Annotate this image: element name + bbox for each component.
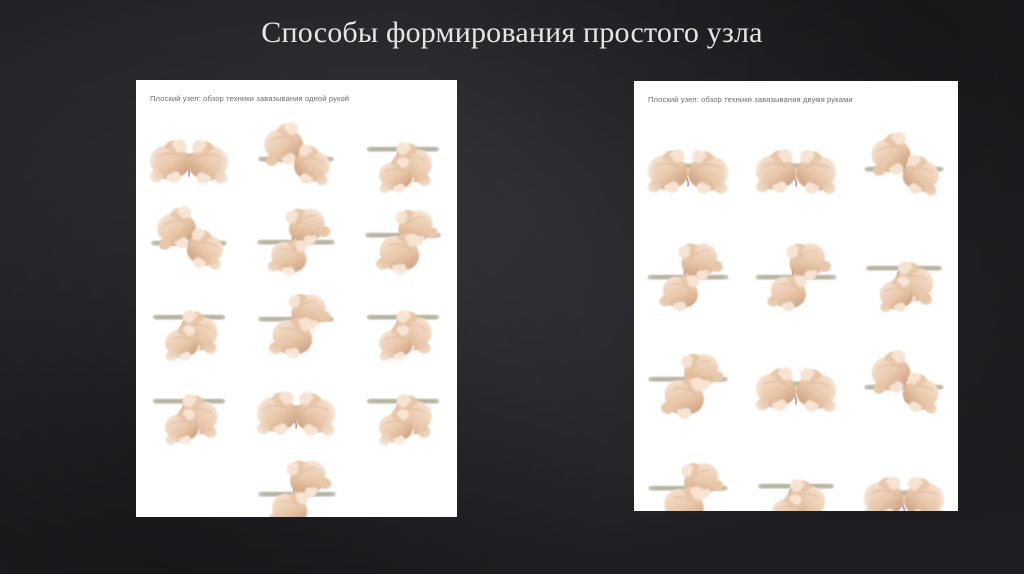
step-photo-second-throw-wrapped	[850, 329, 958, 438]
step-photo-pulling-thread-through-loop	[243, 282, 350, 366]
step-grid-one-hand	[136, 114, 457, 514]
card-caption-one-hand: Плоский узел: обзор техники завязывания …	[150, 94, 349, 103]
step-photo-left-hand-wraps-thread-on-rod	[136, 198, 243, 282]
step-photo-both-hands-hold-suture-under-rod	[634, 111, 742, 220]
technique-card-two-hands: Плоский узел: обзор техники завязывания …	[634, 81, 958, 511]
step-photo-thread-crosses-over-rod	[850, 111, 958, 220]
step-photo-left-hand-raises-thread	[742, 111, 850, 220]
step-photo-hand-grips-knot-under-rod	[136, 366, 243, 450]
step-photo-thread-pulled-taut-over-rod	[850, 220, 958, 329]
step-photo-fingers-pass-thread-under-rod	[243, 198, 350, 282]
step-photo-hands-exchange-thread-ends	[742, 329, 850, 438]
step-photo-first-throw-seated-on-rod	[634, 329, 742, 438]
step-photo-completed-knot-two-hand-technique	[850, 438, 958, 511]
step-photo-forming-loop-under-rod	[136, 282, 243, 366]
presentation-slide: Способы формирования простого узла Плоск…	[0, 0, 1024, 574]
step-photo-setting-the-knot	[350, 366, 457, 450]
step-photo-end-passed-through-loop	[742, 220, 850, 329]
step-grid-two-hands	[634, 111, 958, 506]
step-photo-two-hands-holding-suture	[136, 114, 243, 198]
step-photo-square-knot-being-tightened	[742, 438, 850, 511]
step-photo-loop-formed-around-fingers	[634, 220, 742, 329]
step-photo-hand-over-rod-with-thread	[243, 114, 350, 198]
step-photo-finished-flat-knot-on-rod	[136, 450, 457, 517]
step-photo-tightening-first-throw	[350, 282, 457, 366]
technique-card-one-hand: Плоский узел: обзор техники завязывания …	[136, 80, 457, 517]
page-title: Способы формирования простого узла	[0, 16, 1024, 50]
step-photo-hand-below-rod-holding-end	[350, 198, 457, 282]
step-photo-second-hand-pulls-free-end	[243, 366, 350, 450]
card-caption-two-hands: Плоский узел: обзор техники завязывания …	[648, 95, 853, 104]
step-photo-fingers-guide-end-through	[634, 438, 742, 511]
step-photo-thread-looped-around-rod	[350, 114, 457, 198]
